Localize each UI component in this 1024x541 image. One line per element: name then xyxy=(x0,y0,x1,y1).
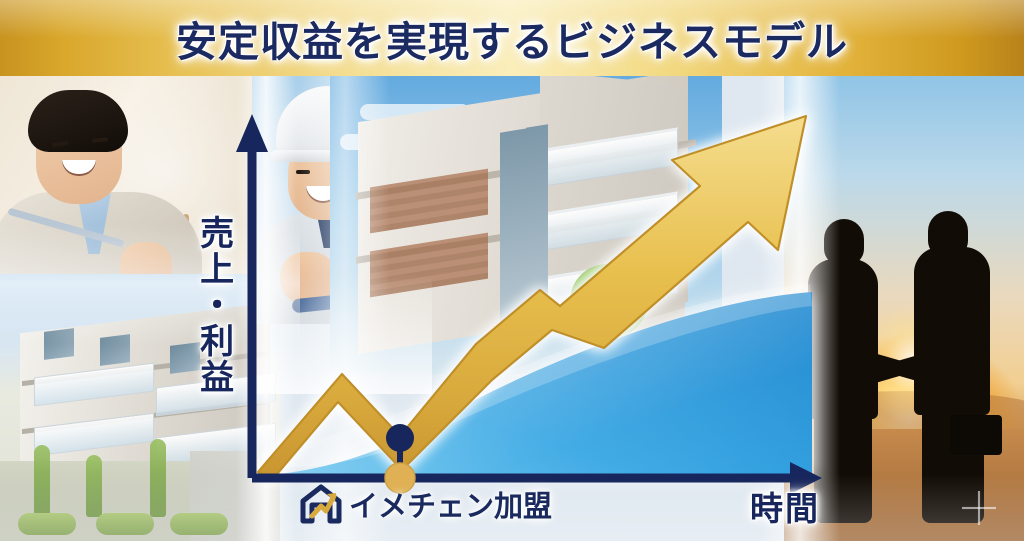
chart-svg xyxy=(0,0,1024,541)
x-axis-label: 時間 xyxy=(750,482,820,530)
y-axis-label: 売上・利益 xyxy=(196,215,231,395)
house-arrow-logo-icon xyxy=(300,484,342,524)
brand-logo-text: イメチェン加盟 xyxy=(349,483,552,525)
brand-logo[interactable]: イメチェン加盟 xyxy=(300,482,552,526)
growth-chart: 売上・利益 時間 xyxy=(0,0,1024,541)
title-banner: 安定収益を実現するビジネスモデル xyxy=(0,0,1024,76)
page-title: 安定収益を実現するビジネスモデル xyxy=(0,0,1024,76)
promo-banner-image: 売上・利益 時間 イメチェン加盟 安定収益を実現するビジネスモデル xyxy=(0,0,1024,541)
